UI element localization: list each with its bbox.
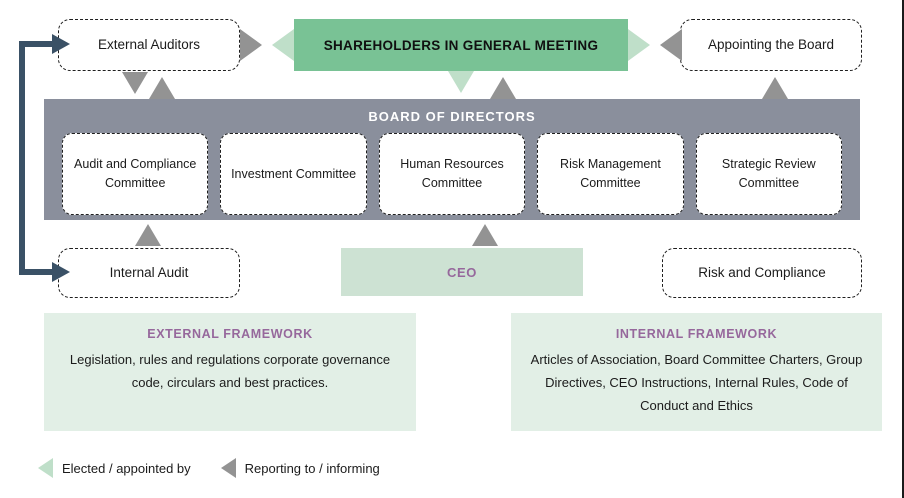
legend-reporting-label: Reporting to / informing (245, 461, 380, 476)
internal-audit-label: Internal Audit (110, 263, 189, 283)
external-framework-body: Legislation, rules and regulations corpo… (60, 349, 400, 395)
board-of-directors-bar: BOARD OF DIRECTORS Audit and Compliance … (44, 99, 860, 220)
external-auditors-box[interactable]: External Auditors (58, 19, 240, 71)
arrow-shareholders-elected-right-icon (628, 29, 650, 61)
external-auditors-label: External Auditors (98, 35, 200, 55)
legend-green-arrow-icon (38, 458, 53, 478)
arrow-auditors-down-icon (122, 72, 148, 94)
arrow-shareholders-elects-board-icon (448, 71, 474, 93)
internal-framework-body: Articles of Association, Board Committee… (527, 349, 866, 417)
committee-label: Risk Management Committee (542, 155, 678, 193)
external-framework-title: EXTERNAL FRAMEWORK (60, 327, 400, 341)
internal-audit-box[interactable]: Internal Audit (58, 248, 240, 298)
arrow-internal-audit-reports-icon (135, 224, 161, 246)
legend-gray-arrow-icon (221, 458, 236, 478)
external-framework-panel: EXTERNAL FRAMEWORK Legislation, rules an… (44, 313, 416, 431)
committee-audit-and-compliance[interactable]: Audit and Compliance Committee (62, 133, 208, 215)
arrow-board-appointment-to-shareholders-icon (660, 29, 682, 61)
committee-label: Investment Committee (231, 165, 356, 184)
committee-human-resources[interactable]: Human Resources Committee (379, 133, 525, 215)
legend-elected-label: Elected / appointed by (62, 461, 191, 476)
board-of-directors-title: BOARD OF DIRECTORS (44, 109, 860, 124)
legend-item-reporting: Reporting to / informing (221, 458, 380, 478)
committee-strategic-review[interactable]: Strategic Review Committee (696, 133, 842, 215)
committee-label: Human Resources Committee (384, 155, 520, 193)
governance-diagram: External Auditors SHAREHOLDERS IN GENERA… (0, 0, 904, 498)
legend-item-elected: Elected / appointed by (38, 458, 191, 478)
arrow-board-to-auditors-up-icon (149, 77, 175, 99)
arrow-auditors-to-shareholders-icon (240, 29, 262, 61)
shareholders-label: SHAREHOLDERS IN GENERAL MEETING (324, 38, 599, 53)
arrow-board-reports-to-shareholders-icon (490, 77, 516, 99)
appointing-the-board-label: Appointing the Board (708, 35, 834, 55)
committee-investment[interactable]: Investment Committee (220, 133, 366, 215)
committee-label: Strategic Review Committee (701, 155, 837, 193)
internal-framework-panel: INTERNAL FRAMEWORK Articles of Associati… (511, 313, 882, 431)
ceo-box[interactable]: CEO (341, 248, 583, 296)
arrow-shareholders-elected-left-icon (272, 29, 294, 61)
committee-row: Audit and Compliance Committee Investmen… (62, 133, 842, 215)
risk-and-compliance-box[interactable]: Risk and Compliance (662, 248, 862, 298)
committee-risk-management[interactable]: Risk Management Committee (537, 133, 683, 215)
internal-framework-title: INTERNAL FRAMEWORK (527, 327, 866, 341)
arrow-ceo-reports-icon (472, 224, 498, 246)
legend: Elected / appointed by Reporting to / in… (38, 458, 380, 478)
committee-label: Audit and Compliance Committee (67, 155, 203, 193)
ceo-label: CEO (447, 265, 477, 280)
appointing-the-board-box[interactable]: Appointing the Board (680, 19, 862, 71)
shareholders-general-meeting-box[interactable]: SHAREHOLDERS IN GENERAL MEETING (294, 19, 628, 71)
arrow-board-appointment-up-icon (762, 77, 788, 99)
risk-and-compliance-label: Risk and Compliance (698, 263, 826, 283)
